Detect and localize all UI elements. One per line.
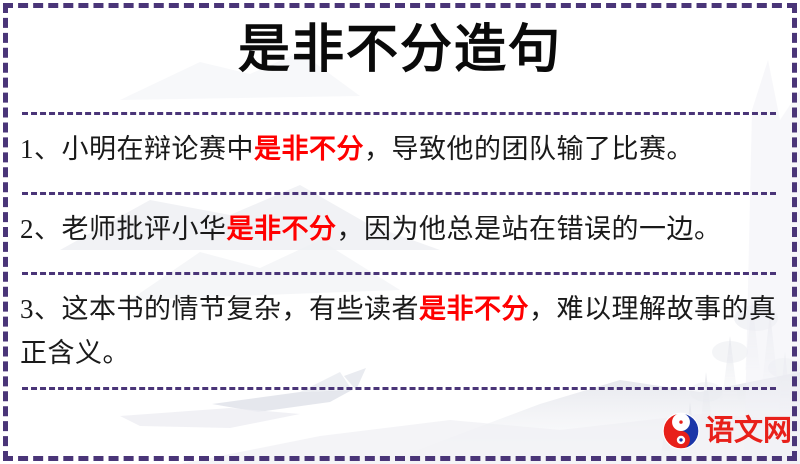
example-sentence-2: 2、老师批评小华是非不分，因为他总是站在错误的一边。 xyxy=(20,207,780,251)
sentence-3-idiom: 是非不分 xyxy=(419,294,529,324)
separator-line-1 xyxy=(22,112,776,115)
separator-line-2 xyxy=(22,192,776,195)
yin-yang-emblem-icon xyxy=(662,412,700,450)
page-title: 是非不分造句 xyxy=(0,17,800,85)
sentence-2-after: ，因为他总是站在错误的一边。 xyxy=(337,214,722,244)
separator-line-4 xyxy=(22,387,776,390)
site-logo-text: 语文网 xyxy=(705,412,792,450)
sentence-2-index: 2、 xyxy=(20,214,62,244)
example-sentence-3: 3、这本书的情节复杂，有些读者是非不分，难以理解故事的真正含义。 xyxy=(20,287,780,375)
slide-page: 是非不分造句 1、小明在辩论赛中是非不分，导致他的团队输了比赛。 2、老师批评小… xyxy=(0,0,800,464)
sentence-1-idiom: 是非不分 xyxy=(254,134,364,164)
sentence-2-before: 老师批评小华 xyxy=(62,214,227,244)
site-logo[interactable]: 语文网 xyxy=(662,412,792,450)
sentence-3-index: 3、 xyxy=(20,294,62,324)
sentence-2-idiom: 是非不分 xyxy=(227,214,337,244)
slide-content: 是非不分造句 1、小明在辩论赛中是非不分，导致他的团队输了比赛。 2、老师批评小… xyxy=(0,0,800,464)
sentence-3-before: 这本书的情节复杂，有些读者 xyxy=(62,294,420,324)
sentence-1-before: 小明在辩论赛中 xyxy=(62,134,255,164)
separator-line-3 xyxy=(22,272,776,275)
sentence-1-after: ，导致他的团队输了比赛。 xyxy=(364,134,694,164)
sentence-1-index: 1、 xyxy=(20,134,62,164)
example-sentence-1: 1、小明在辩论赛中是非不分，导致他的团队输了比赛。 xyxy=(20,127,780,171)
